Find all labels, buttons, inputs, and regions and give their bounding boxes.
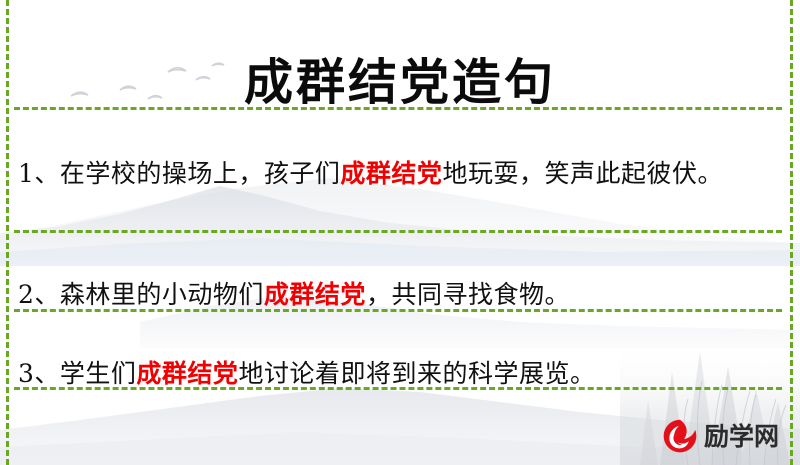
sentence-number-3: 3、 (18, 359, 60, 388)
highlighted-idiom-1: 成群结党 (340, 159, 442, 188)
page-title: 成群结党造句 (0, 51, 800, 115)
divider-after-sentence-1 (14, 230, 782, 233)
sentence-number-1: 1、 (18, 159, 60, 188)
sentence-number-2: 2、 (18, 280, 60, 309)
sentence-item-2: 2、森林里的小动物们成群结党，共同寻找食物。 (18, 276, 776, 314)
sentence-text-before-2: 森林里的小动物们 (60, 280, 264, 309)
sentence-item-3: 3、学生们成群结党地讨论着即将到来的科学展览。 (18, 355, 776, 393)
highlighted-idiom-2: 成群结党 (264, 280, 366, 309)
sentence-text-after-2: ，共同寻找食物。 (366, 280, 570, 309)
sentence-card-page: 成群结党造句 1、在学校的操场上，孩子们成群结党地玩耍，笑声此起彼伏。 2、森林… (0, 0, 800, 465)
highlighted-idiom-3: 成群结党 (136, 359, 238, 388)
sentence-text-before-3: 学生们 (60, 359, 137, 388)
red-swirl-flame-icon (662, 418, 698, 454)
sentence-text-before-1: 在学校的操场上，孩子们 (60, 159, 341, 188)
sentence-item-1: 1、在学校的操场上，孩子们成群结党地玩耍，笑声此起彼伏。 (18, 155, 776, 193)
sentence-text-after-1: 地玩耍，笑声此起彼伏。 (442, 159, 723, 188)
sentence-text-after-3: 地讨论着即将到来的科学展览。 (238, 359, 595, 388)
site-logo[interactable]: 励学网 (662, 418, 779, 454)
site-logo-text: 励学网 (704, 424, 779, 449)
